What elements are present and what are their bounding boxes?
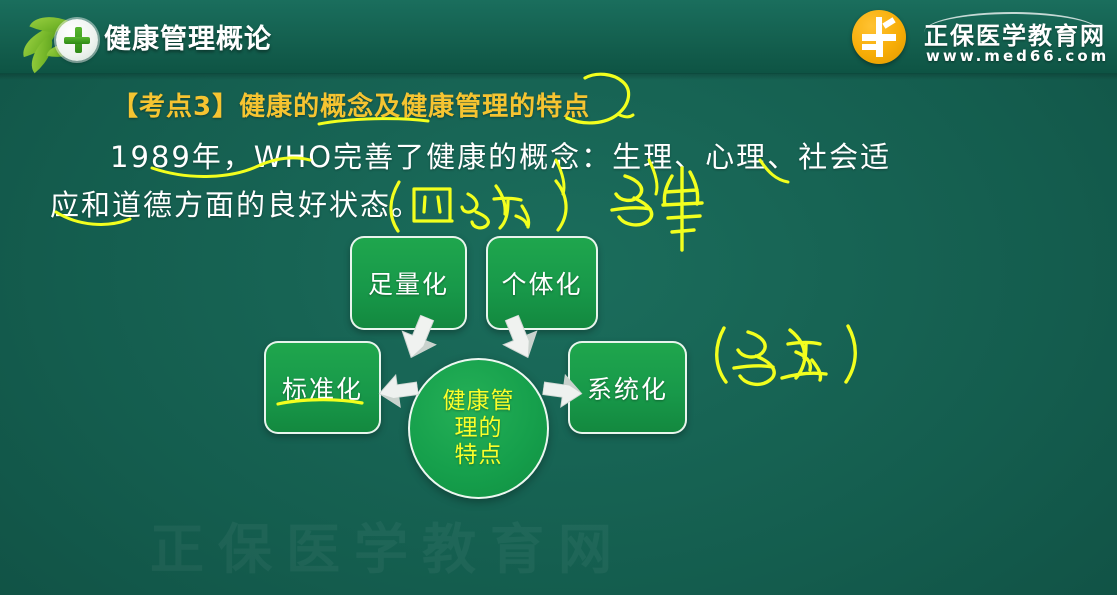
center-line-2: 理的	[455, 415, 503, 442]
page-title: 健康管理概论	[104, 17, 272, 56]
kaodian-heading: 【考点3】健康的概念及健康管理的特点	[112, 86, 590, 123]
header-shadow	[0, 74, 1117, 80]
slide-canvas: 健康管理概论 正保医学教育网 www.med66.com 【考点3】健康的概念及…	[0, 0, 1117, 595]
brand-logo: 正保医学教育网 www.med66.com	[852, 6, 1107, 68]
body-text-line-2: 应和道德方面的良好状态。	[50, 182, 422, 224]
arrow-icon	[541, 370, 586, 411]
diagram-node-biaozhunhua: 标准化	[264, 341, 381, 434]
diagram-node-xitonghua: 系统化	[568, 341, 687, 434]
handwriting-duoxuan-duo	[734, 332, 774, 384]
handwriting-duoxuan-paren-right	[846, 326, 855, 382]
brand-name: 正保医学教育网	[924, 16, 1106, 51]
orange-cross-circle-logo	[852, 10, 906, 64]
header-bar: 健康管理概论 正保医学教育网 www.med66.com	[0, 0, 1117, 74]
medical-cross-icon	[56, 19, 98, 61]
handwriting-dan-ink	[663, 168, 702, 250]
handwriting-duo-ink	[612, 176, 652, 225]
diagram-node-getihua: 个体化	[486, 236, 598, 330]
handwriting-duoxuan-paren-left	[717, 328, 726, 382]
handwriting-duoxuan-xuan	[782, 330, 826, 380]
background-watermark: 正保医学教育网	[150, 505, 970, 575]
brand-url: www.med66.com	[926, 47, 1109, 65]
handwriting-siwei-wei	[462, 186, 529, 228]
green-cross-leaf-logo	[18, 8, 110, 68]
body-text-line-1: 1989年，WHO完善了健康的概念：生理、心理、社会适	[110, 134, 891, 176]
arrow-icon	[376, 370, 421, 411]
diagram-center-circle: 健康管 理的 特点	[408, 358, 549, 499]
circle-tedian-ink-tail	[618, 114, 633, 117]
center-line-3: 特点	[455, 442, 503, 469]
center-line-1: 健康管	[443, 388, 515, 415]
handwriting-siwei-paren-right	[556, 181, 566, 230]
